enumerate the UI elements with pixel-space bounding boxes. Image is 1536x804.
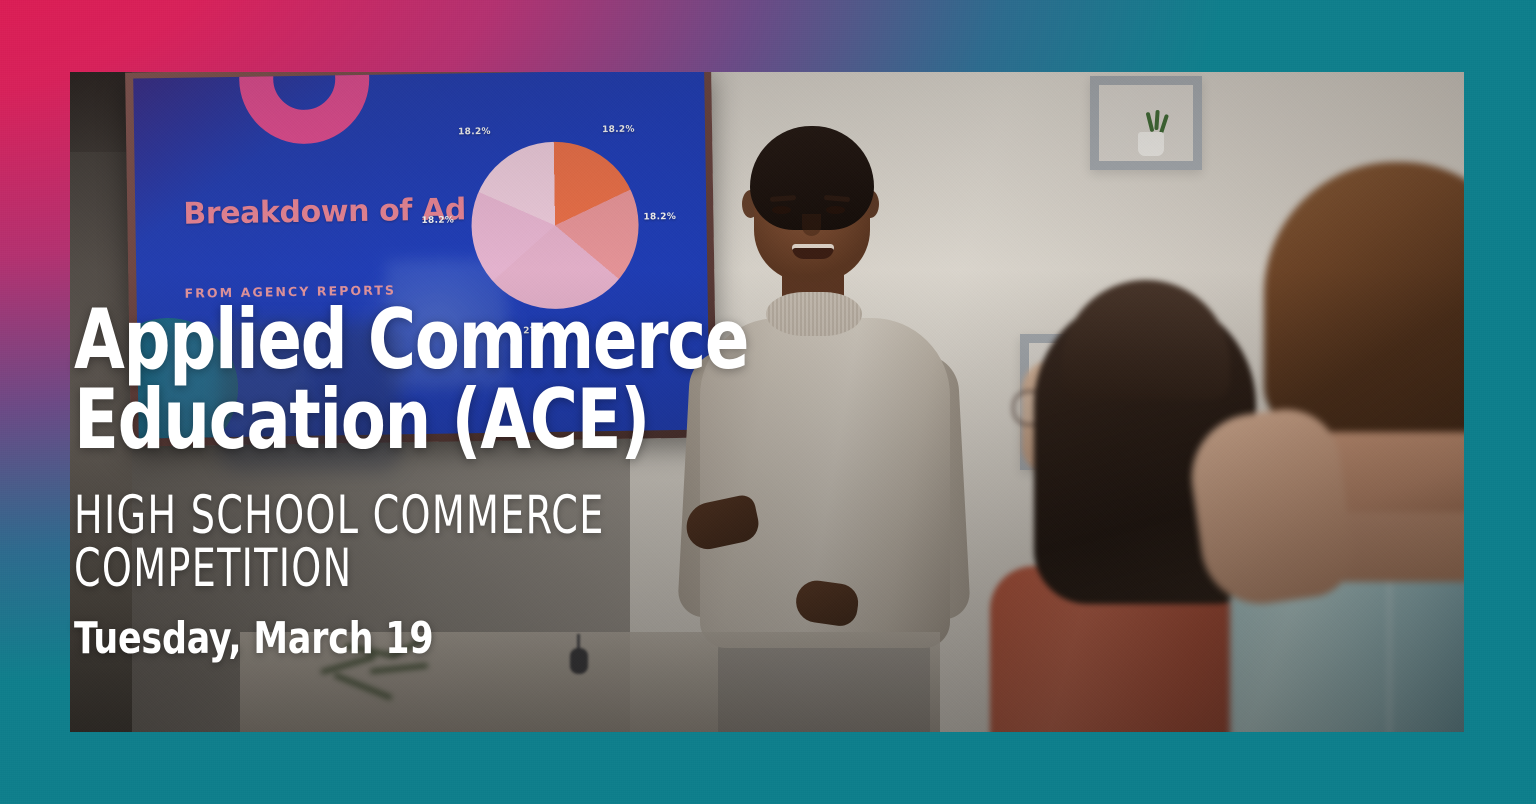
potted-plant-top [1138,132,1164,156]
page-subtitle: HIGH SCHOOL COMMERCE COMPETITION [74,489,858,595]
page-title: Applied Commerce Education (ACE) [74,300,936,459]
presenter-nose [802,214,821,236]
slide-donut-shape [238,72,370,145]
pie-slice-label: 18.2% [421,215,454,226]
presenter-eye [772,206,791,214]
pie-chart-graphic [470,141,640,311]
presenter-eye [826,206,845,214]
event-title-block: Applied Commerce Education (ACE) HIGH SC… [74,300,1054,661]
audience-man-hair [1264,162,1464,432]
event-date: Tuesday, March 19 [74,617,936,661]
pie-slice-label: 18.2% [458,127,491,138]
presenter-mouth [792,244,834,259]
audience-member-man [1200,162,1464,732]
pie-slice-label: 18.2% [602,125,635,136]
